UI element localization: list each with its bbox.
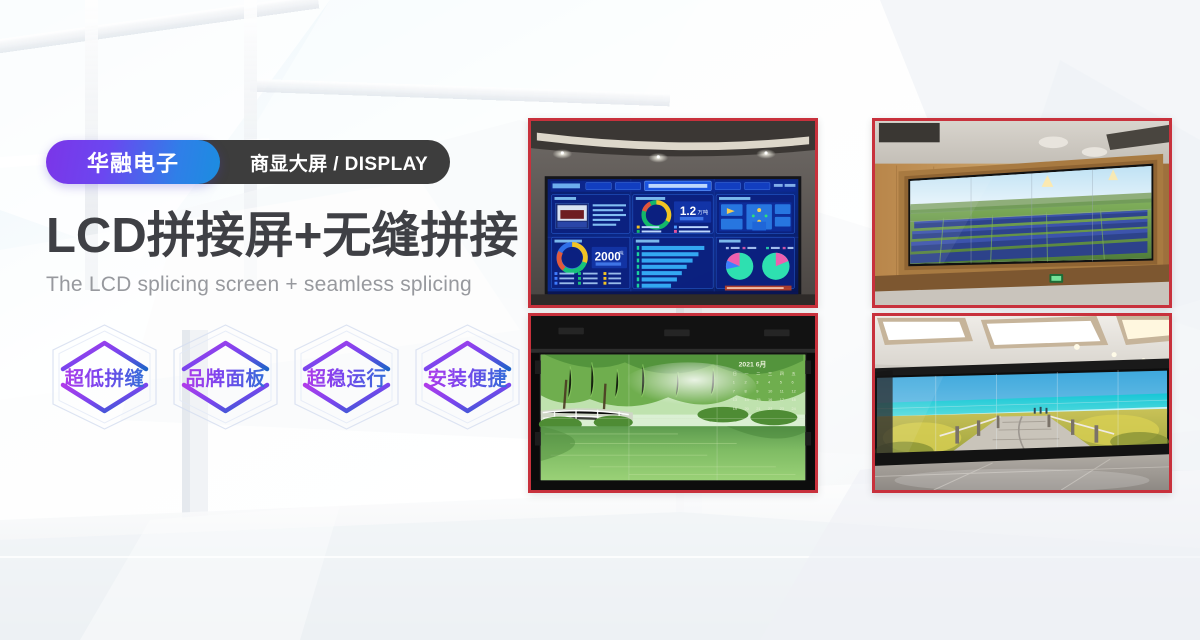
svg-text:2000: 2000 <box>595 251 622 264</box>
feature-label: 品牌面板 <box>185 362 265 391</box>
svg-text:7: 7 <box>733 388 735 393</box>
svg-text:吨: 吨 <box>619 250 624 256</box>
lakeside-video-wall-illustration: 2021 6月 日一二 三四五 123456 789101112 1314151… <box>531 316 815 490</box>
svg-text:2: 2 <box>744 380 746 385</box>
svg-text:11: 11 <box>780 388 784 393</box>
svg-text:9: 9 <box>756 388 758 393</box>
svg-text:5: 5 <box>780 380 782 385</box>
svg-text:1: 1 <box>733 380 735 385</box>
page-subtitle: The LCD splicing screen + seamless splic… <box>46 273 546 297</box>
svg-text:18: 18 <box>791 397 795 402</box>
svg-text:12: 12 <box>791 388 795 393</box>
feature-badge-3: 超稳运行 <box>288 321 405 433</box>
svg-text:17: 17 <box>780 397 784 402</box>
svg-text:日: 日 <box>733 371 737 376</box>
svg-text:19: 19 <box>733 406 737 411</box>
photo-beach-boardwalk-video-wall <box>872 313 1172 493</box>
svg-text:23: 23 <box>780 406 784 411</box>
photo-lakeside-video-wall: 2021 6月 日一二 三四五 123456 789101112 1314151… <box>528 313 818 493</box>
svg-text:一: 一 <box>744 371 748 376</box>
svg-text:20: 20 <box>744 406 748 411</box>
svg-text:四: 四 <box>780 371 784 376</box>
page-title: LCD拼接屏+无缝拼接 <box>46 210 546 263</box>
svg-text:16: 16 <box>768 397 772 402</box>
feature-label: 安装便捷 <box>427 362 507 391</box>
svg-text:3: 3 <box>756 380 758 385</box>
svg-text:6: 6 <box>791 380 793 385</box>
beach-boardwalk-video-wall-illustration <box>875 316 1169 490</box>
dashboard-video-wall-illustration: 1.2 万吨 <box>531 121 815 305</box>
feature-badge-2: 品牌面板 <box>167 321 284 433</box>
promo-banner: 商显大屏 / DISPLAY 华融电子 LCD拼接屏+无缝拼接 The LCD … <box>0 0 1200 640</box>
svg-text:22: 22 <box>768 406 772 411</box>
feature-badge-1: 超低拼缝 <box>46 321 163 433</box>
photo-solar-farm-video-wall <box>872 118 1172 308</box>
feature-badge-row: 超低拼缝 品牌面板 超稳运行 <box>46 321 546 433</box>
product-photo-grid: 1.2 万吨 <box>528 118 1173 493</box>
svg-text:二: 二 <box>756 371 760 376</box>
svg-text:21: 21 <box>756 406 760 411</box>
solar-farm-video-wall-illustration <box>875 121 1169 305</box>
brand-tag: 华融电子 <box>46 140 220 184</box>
feature-label: 超低拼缝 <box>64 362 144 391</box>
photo-dashboard-video-wall: 1.2 万吨 <box>528 118 818 308</box>
svg-text:五: 五 <box>791 371 795 376</box>
svg-text:万吨: 万吨 <box>697 208 708 216</box>
content-column: 商显大屏 / DISPLAY 华融电子 LCD拼接屏+无缝拼接 The LCD … <box>46 140 546 433</box>
svg-text:三: 三 <box>768 371 772 376</box>
svg-text:2021 6月: 2021 6月 <box>739 360 767 368</box>
feature-badge-4: 安装便捷 <box>409 321 526 433</box>
brand-tag-row: 商显大屏 / DISPLAY 华融电子 <box>46 140 220 184</box>
svg-text:8: 8 <box>744 388 746 393</box>
svg-text:10: 10 <box>768 388 772 393</box>
svg-text:1.2: 1.2 <box>680 205 697 218</box>
feature-label: 超稳运行 <box>306 362 386 391</box>
svg-text:13: 13 <box>733 397 737 402</box>
svg-text:15: 15 <box>756 397 760 402</box>
